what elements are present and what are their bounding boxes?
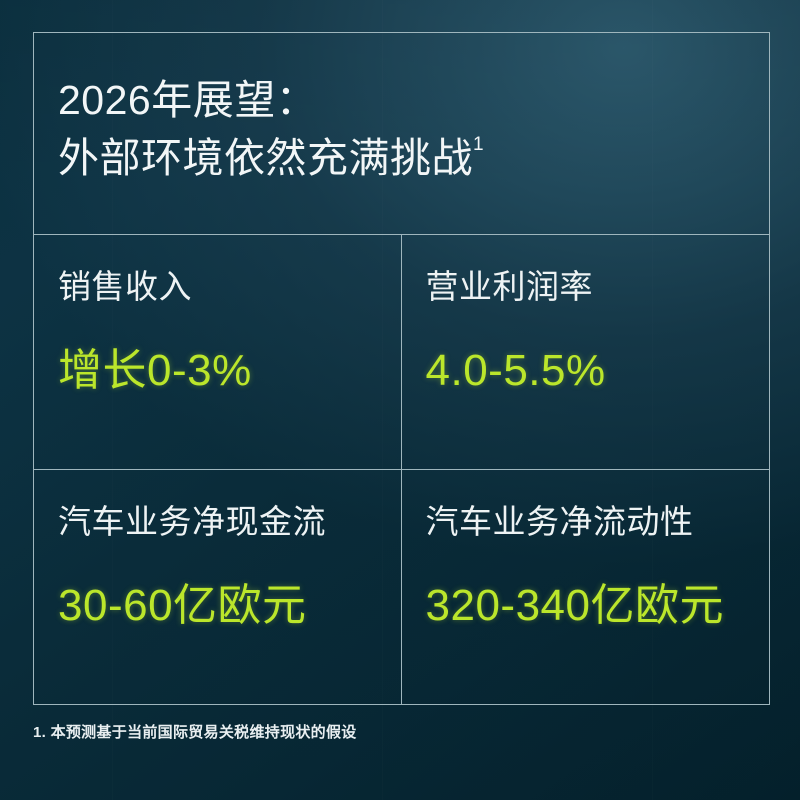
metrics-row-1: 销售收入 增长0-3% 营业利润率 4.0-5.5% bbox=[34, 235, 769, 470]
metric-cell-automotive-net-cash-flow: 汽车业务净现金流 30-60亿欧元 bbox=[34, 470, 402, 704]
title-row: 2026年展望： 外部环境依然充满挑战1 bbox=[34, 33, 769, 235]
metric-label: 汽车业务净现金流 bbox=[58, 502, 401, 542]
page-title-line-1: 2026年展望： bbox=[58, 71, 484, 129]
slide-canvas: 2026年展望： 外部环境依然充满挑战1 销售收入 增长0-3% 营业利润率 4… bbox=[0, 0, 800, 800]
page-title-line-2-wrap: 外部环境依然充满挑战1 bbox=[58, 129, 484, 187]
metric-label: 营业利润率 bbox=[426, 267, 770, 307]
metric-value: 增长0-3% bbox=[58, 345, 401, 397]
footnote-marker: 1 bbox=[473, 134, 484, 155]
metric-value: 4.0-5.5% bbox=[426, 345, 770, 397]
page-title: 2026年展望： 外部环境依然充满挑战1 bbox=[58, 71, 484, 187]
metric-cell-sales-revenue: 销售收入 增长0-3% bbox=[34, 235, 402, 469]
outlook-table: 2026年展望： 外部环境依然充满挑战1 销售收入 增长0-3% 营业利润率 4… bbox=[33, 32, 770, 705]
footnote-text: 1. 本预测基于当前国际贸易关税维持现状的假设 bbox=[33, 722, 357, 744]
metric-value: 320-340亿欧元 bbox=[426, 580, 770, 632]
page-title-line-2: 外部环境依然充满挑战 bbox=[58, 135, 473, 181]
metric-value: 30-60亿欧元 bbox=[58, 580, 401, 632]
metric-cell-automotive-net-liquidity: 汽车业务净流动性 320-340亿欧元 bbox=[402, 470, 770, 704]
metric-cell-operating-margin: 营业利润率 4.0-5.5% bbox=[402, 235, 770, 469]
metrics-row-2: 汽车业务净现金流 30-60亿欧元 汽车业务净流动性 320-340亿欧元 bbox=[34, 470, 769, 704]
metric-label: 销售收入 bbox=[58, 267, 401, 307]
metric-label: 汽车业务净流动性 bbox=[426, 502, 770, 542]
